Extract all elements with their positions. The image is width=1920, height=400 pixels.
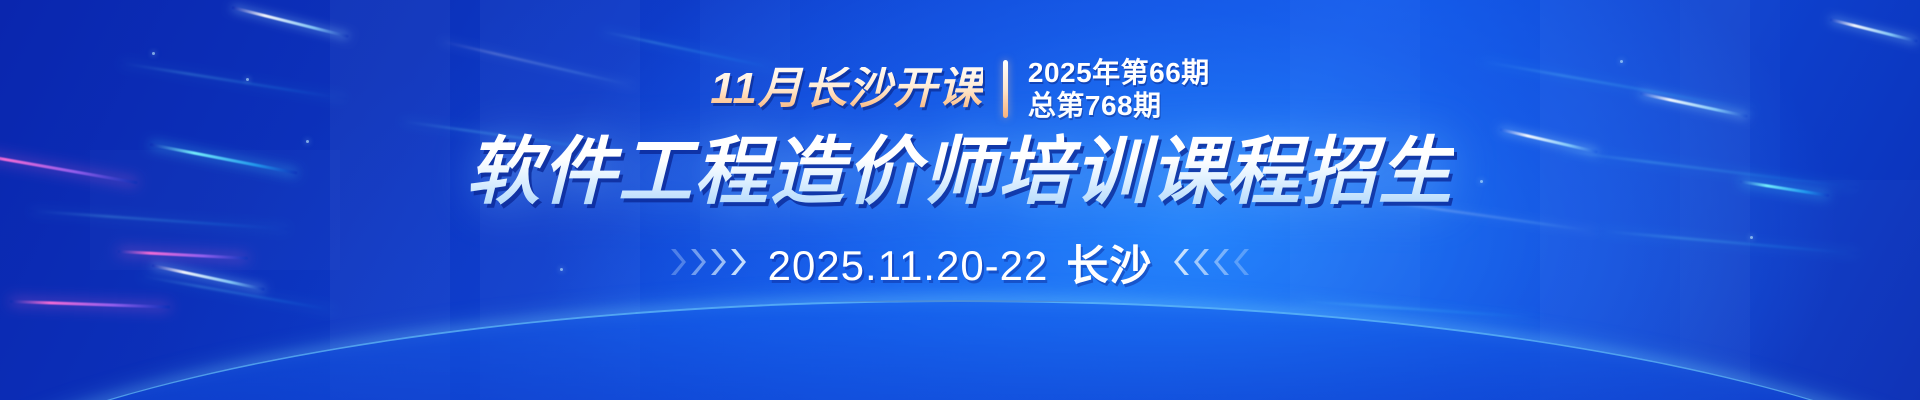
chevron-left-icon: [1214, 247, 1231, 277]
issue-line-2: 总第768期: [1028, 89, 1210, 122]
issue-line-1: 2025年第66期: [1028, 56, 1210, 89]
event-date: 2025.11.20-22: [768, 242, 1049, 289]
chevrons-left: [669, 247, 746, 277]
promo-banner: 11月长沙开课 2025年第66期 总第768期 软件工程造价师培训课程招生: [0, 0, 1920, 400]
chevron-right-icon: [689, 247, 706, 277]
chevron-left-icon: [1234, 247, 1251, 277]
banner-headline: 软件工程造价师培训课程招生: [466, 132, 1454, 212]
banner-content: 11月长沙开课 2025年第66期 总第768期 软件工程造价师培训课程招生: [0, 0, 1920, 400]
chevron-right-icon: [669, 247, 686, 277]
chevron-right-icon: [729, 247, 746, 277]
date-row: 2025.11.20-22长沙: [669, 232, 1252, 293]
vertical-divider: [1003, 60, 1008, 118]
date-location-text: 2025.11.20-22长沙: [768, 232, 1153, 293]
kicker-row: 11月长沙开课 2025年第66期 总第768期: [710, 56, 1210, 122]
issue-block: 2025年第66期 总第768期: [1028, 56, 1210, 122]
kicker-text: 11月长沙开课: [710, 67, 983, 111]
chevron-right-icon: [709, 247, 726, 277]
chevrons-right: [1174, 247, 1251, 277]
chevron-left-icon: [1174, 247, 1191, 277]
chevron-left-icon: [1194, 247, 1211, 277]
event-city: 长沙: [1066, 242, 1152, 289]
